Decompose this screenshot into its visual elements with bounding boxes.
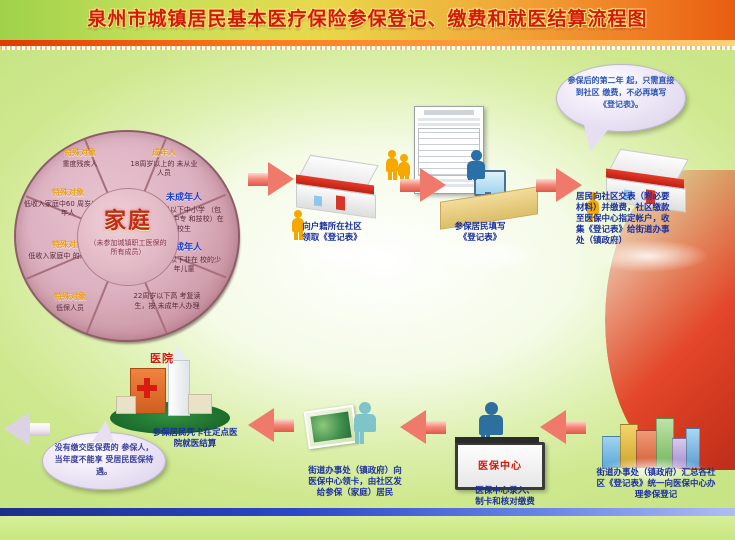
note-bubble-second-year: 参保后的第二年 起，只需直接到社区 缴费，不必再填写 《登记表》。 bbox=[556, 64, 686, 132]
wheel-segment-dibao: 特殊对象 低保人员 bbox=[28, 292, 112, 313]
step4-caption: 街道办事处（镇政府）汇总各社 区《登记表》统一向医保中心办 理参保登记 bbox=[578, 468, 734, 501]
step5-staff-person bbox=[478, 402, 504, 442]
segment-tag: 特殊对象 bbox=[42, 148, 118, 158]
poster-header: 泉州市城镇居民基本医疗保险参保登记、缴费和就医结算流程图 bbox=[0, 0, 735, 40]
wheel-segment-severe-disability: 特殊对象 重度残疾人 bbox=[42, 148, 118, 169]
page-title: 泉州市城镇居民基本医疗保险参保登记、缴费和就医结算流程图 bbox=[0, 4, 735, 31]
wheel-hub-title: 家庭 bbox=[78, 203, 178, 235]
wheel-hub: 家庭 （未参加城镇职工医保的所有成员） bbox=[77, 188, 179, 286]
poster-root: 泉州市城镇居民基本医疗保险参保登记、缴费和就医结算流程图 成年人 18周岁以上的… bbox=[0, 0, 735, 540]
wheel-disc: 成年人 18周岁以上的 未从业人员 未成年人 18周岁以下中小学 （包括职高、中… bbox=[14, 130, 240, 342]
segment-tag: 成年人 bbox=[128, 148, 200, 158]
step1-caption: 向户籍所在社区 领取《登记表》 bbox=[272, 222, 392, 244]
segment-tag: 特殊对象 bbox=[28, 292, 112, 302]
step7-hospital-label: 医院 bbox=[150, 350, 174, 366]
step2-caption: 参保居民填写 《登记表》 bbox=[420, 222, 540, 244]
step2-staff-person bbox=[465, 150, 487, 184]
step5-center-panel: 医保中心 bbox=[455, 442, 545, 490]
note-bubble-text: 参保后的第二年 起，只需直接到社区 缴费，不必再填写 《登记表》。 bbox=[557, 65, 685, 111]
step6-resident-person bbox=[352, 402, 378, 444]
poster-footer: S 泉州市劳动和社会保障局 宣 医疗保险网站：www.qzyb.com 语音服务… bbox=[0, 516, 735, 540]
wheel-hub-subtitle: （未参加城镇职工医保的所有成员） bbox=[78, 239, 178, 257]
wheel-segment-repeat-student: 22周岁以下高 考复读生，按 未成年人办理 bbox=[128, 290, 206, 311]
segment-body: 重度残疾人 bbox=[42, 160, 118, 170]
segment-body: 低保人员 bbox=[28, 304, 112, 314]
step5-caption: 医保中心录入、 制卡和核对缴费 bbox=[440, 486, 570, 508]
family-wheel: 成年人 18周岁以上的 未从业人员 未成年人 18周岁以下中小学 （包括职高、中… bbox=[14, 130, 244, 345]
step5-panel-label: 医保中心 bbox=[458, 457, 542, 472]
footer-band bbox=[0, 508, 735, 516]
step6-insurance-card bbox=[304, 405, 359, 450]
step2-ground-shadow bbox=[432, 240, 542, 270]
segment-body: 18周岁以上的 未从业人员 bbox=[128, 160, 200, 179]
segment-body: 22周岁以下高 考复读生，按 未成年人办理 bbox=[128, 292, 206, 311]
diagram-canvas: 成年人 18周岁以上的 未从业人员 未成年人 18周岁以下中小学 （包括职高、中… bbox=[0, 50, 735, 508]
arrow-step4-to-step5 bbox=[540, 410, 586, 444]
step2-desk-computer bbox=[440, 168, 536, 228]
step6-caption: 街道办事处（镇政府）向 医保中心领卡，由社区发 给参保（家庭）居民 bbox=[290, 466, 420, 499]
note-bubble-tail bbox=[580, 124, 609, 153]
step1-community-building bbox=[294, 160, 380, 216]
step3-caption: 居民向社区交表（附必要 材料）并缴费，社区缴款 至医保中心指定帐户，收 集《登记… bbox=[576, 192, 726, 247]
step7-hospital bbox=[110, 358, 230, 436]
wheel-segment-adult: 成年人 18周岁以上的 未从业人员 bbox=[128, 148, 200, 179]
arrow-step5-to-step6 bbox=[400, 410, 446, 444]
arrow-wheel-to-step1 bbox=[248, 162, 294, 196]
note-bubble-tail bbox=[92, 420, 114, 442]
